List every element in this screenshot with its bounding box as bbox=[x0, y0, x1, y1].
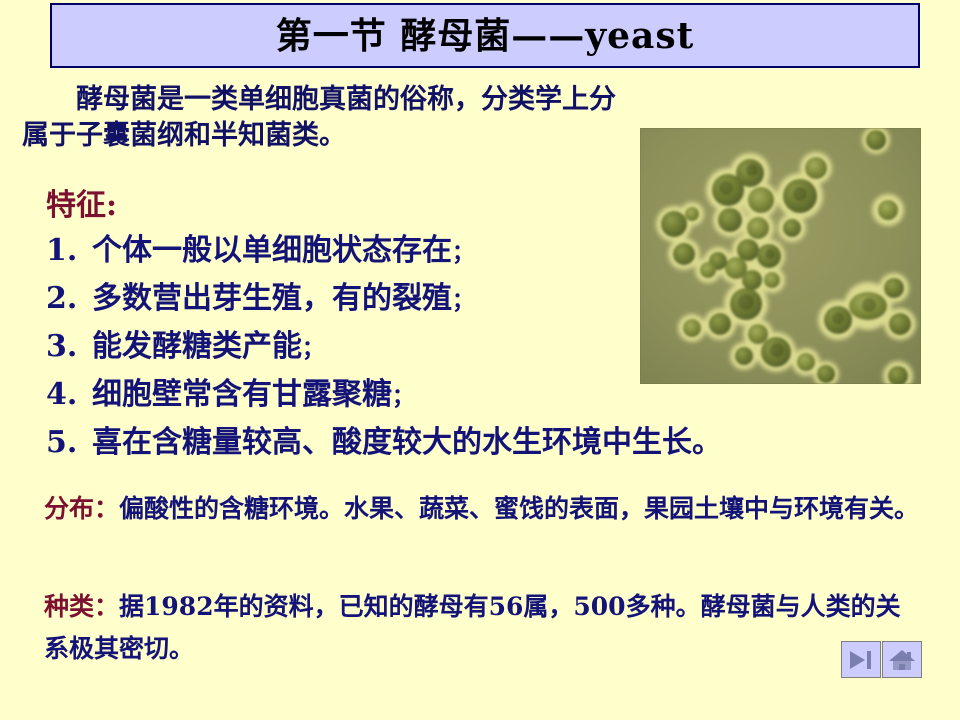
note-species: 种类：据1982年的资料，已知的酵母有56属，500多种。酵母菌与人类的关系极其… bbox=[44, 586, 924, 670]
feature-item-5: 5. 喜在含糖量较高、酸度较大的水生环境中生长。 bbox=[46, 420, 936, 465]
note-distribution: 分布：偏酸性的含糖环境。水果、蔬菜、蜜饯的表面，果园土壤中与环境有关。 bbox=[44, 488, 924, 530]
intro-paragraph: 酵母菌是一类单细胞真菌的俗称，分类学上分属于子囊菌纲和半知菌类。 bbox=[22, 82, 632, 154]
slide-canvas: 第一节 酵母菌——yeast 酵母菌是一类单细胞真菌的俗称，分类学上分属于子囊菌… bbox=[0, 0, 960, 720]
feature-text: 个体一般以单细胞状态存在 bbox=[92, 228, 452, 273]
page-title: 第一节 酵母菌——yeast bbox=[276, 18, 695, 54]
feature-text: 能发酵糖类产能 bbox=[92, 324, 302, 369]
feature-terminator: ； bbox=[452, 231, 474, 276]
feature-item-4: 4. 细胞壁常含有甘露聚糖 ； bbox=[46, 372, 936, 420]
feature-terminator: ； bbox=[392, 375, 414, 420]
note-body: 偏酸性的含糖环境。水果、蔬菜、蜜饯的表面，果园土壤中与环境有关。 bbox=[119, 494, 919, 523]
note-label: 分布： bbox=[44, 494, 119, 523]
slide-navigation bbox=[841, 641, 922, 678]
home-button[interactable] bbox=[882, 641, 922, 678]
feature-text: 细胞壁常含有甘露聚糖 bbox=[92, 372, 392, 417]
note-label: 种类： bbox=[44, 592, 119, 621]
feature-text: 多数营出芽生殖，有的裂殖 bbox=[92, 276, 452, 321]
feature-number: 3. bbox=[46, 324, 92, 369]
next-slide-icon bbox=[848, 650, 874, 670]
feature-number: 4. bbox=[46, 372, 92, 417]
next-slide-button[interactable] bbox=[841, 641, 881, 678]
feature-number: 2. bbox=[46, 276, 92, 321]
feature-item-3: 3. 能发酵糖类产能 ； bbox=[46, 324, 936, 372]
feature-terminator: ； bbox=[302, 327, 324, 372]
feature-number: 1. bbox=[46, 228, 92, 273]
features-block: 特征: 1. 个体一般以单细胞状态存在 ； 2. 多数营出芽生殖，有的裂殖 ； … bbox=[46, 186, 936, 465]
feature-item-1: 1. 个体一般以单细胞状态存在 ； bbox=[46, 228, 936, 276]
feature-terminator: ； bbox=[452, 279, 474, 324]
feature-number: 5. bbox=[46, 420, 92, 465]
feature-text: 喜在含糖量较高、酸度较大的水生环境中生长。 bbox=[92, 420, 722, 465]
features-heading: 特征: bbox=[46, 186, 936, 226]
feature-item-2: 2. 多数营出芽生殖，有的裂殖 ； bbox=[46, 276, 936, 324]
home-icon bbox=[888, 649, 916, 671]
slide-title-box: 第一节 酵母菌——yeast bbox=[50, 3, 920, 68]
note-body: 据1982年的资料，已知的酵母有56属，500多种。酵母菌与人类的关系极其密切。 bbox=[44, 592, 901, 663]
